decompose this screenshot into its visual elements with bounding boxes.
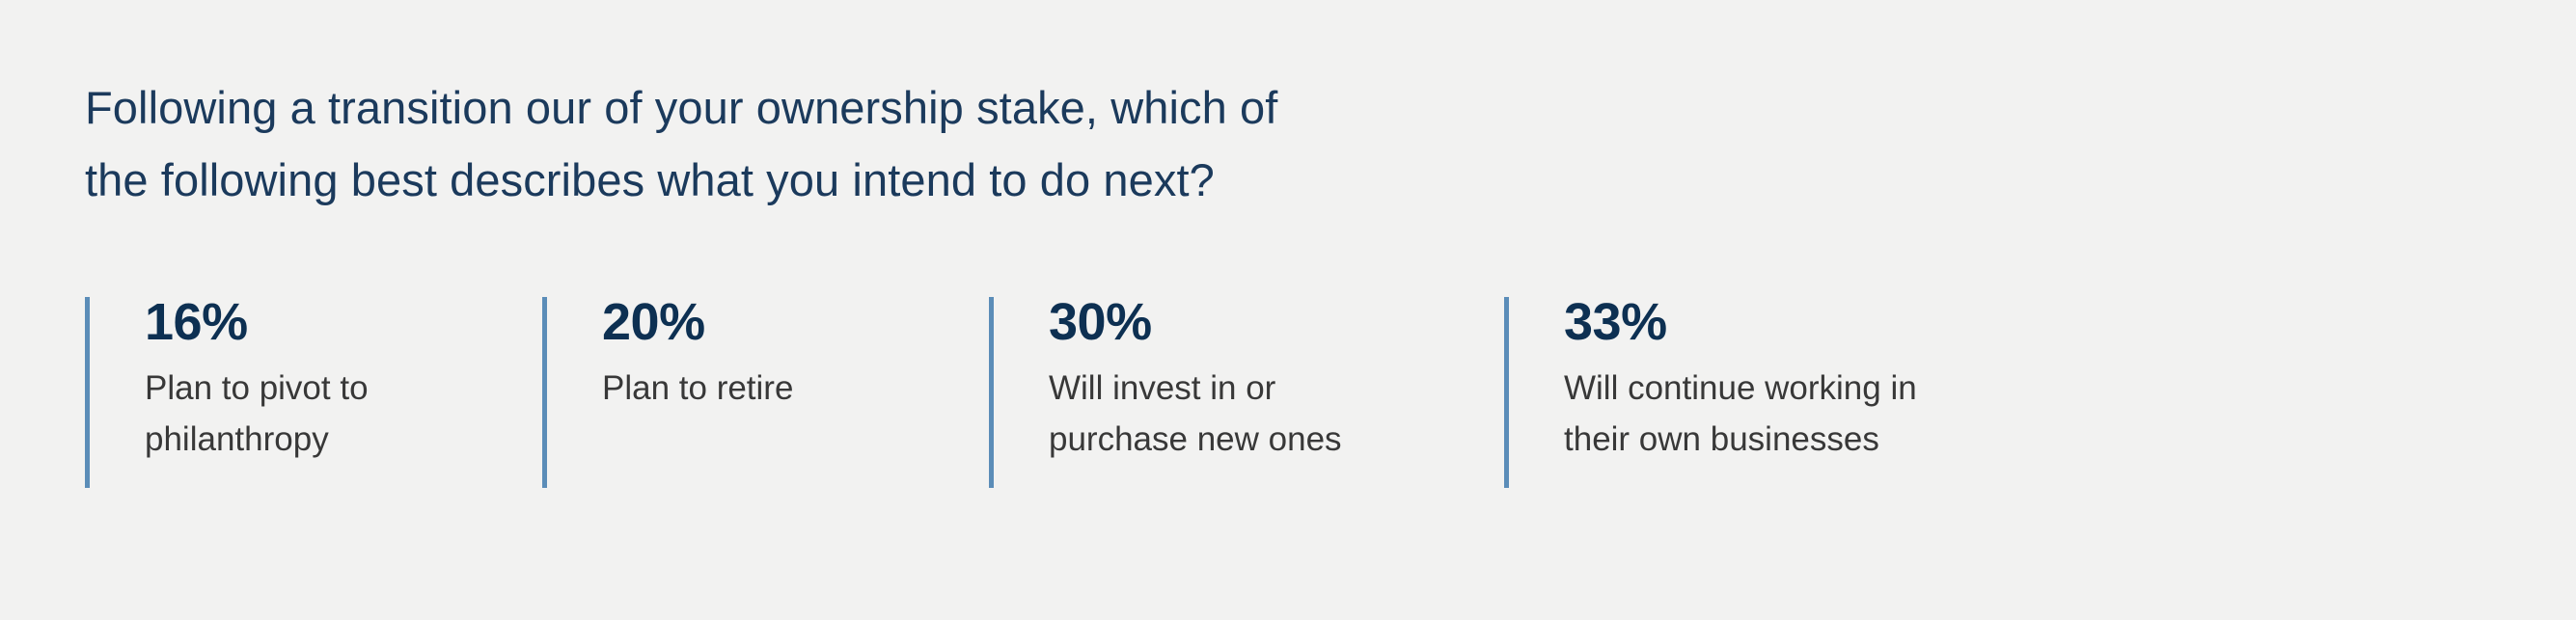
infographic-container: Following a transition our of your owner…: [0, 0, 2576, 620]
stat-value: 20%: [602, 293, 705, 351]
stat-block: 16% Plan to pivot to philanthropy: [85, 297, 369, 490]
stat-label: Will invest in or purchase new ones: [1049, 363, 1342, 465]
stat-body: 33% Will continue working in their own b…: [1509, 297, 1917, 465]
stat-value: 16%: [145, 293, 248, 351]
stat-block: 20% Plan to retire: [542, 297, 793, 490]
page-title-line-1: Following a transition our of your owner…: [85, 71, 1725, 144]
stat-value: 33%: [1564, 293, 1667, 351]
stat-value: 30%: [1049, 293, 1152, 351]
stats-row: 16% Plan to pivot to philanthropy 20% Pl…: [0, 297, 2576, 499]
page-title: Following a transition our of your owner…: [85, 71, 1725, 216]
page-title-line-2: the following best describes what you in…: [85, 144, 1725, 216]
stat-label: Will continue working in their own busin…: [1564, 363, 1917, 465]
stat-label: Plan to pivot to philanthropy: [145, 363, 369, 465]
stat-body: 16% Plan to pivot to philanthropy: [90, 297, 369, 465]
stat-block: 33% Will continue working in their own b…: [1504, 297, 1917, 490]
stat-body: 20% Plan to retire: [547, 297, 793, 414]
stat-block: 30% Will invest in or purchase new ones: [989, 297, 1342, 490]
stat-body: 30% Will invest in or purchase new ones: [994, 297, 1342, 465]
stat-label: Plan to retire: [602, 363, 793, 414]
